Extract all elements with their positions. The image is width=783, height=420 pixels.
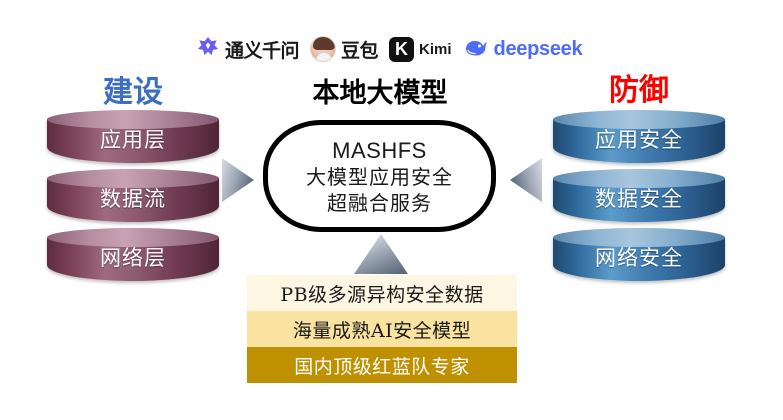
right-cylinder-stack: 应用安全 数据安全 网络安全 — [553, 110, 725, 287]
cylinder-left-1[interactable]: 数据流 — [47, 169, 219, 227]
cylinder-left-0[interactable]: 应用层 — [47, 110, 219, 168]
logo-item-tongyi: 通义千问 — [196, 35, 299, 64]
cylinder-label: 数据流 — [47, 183, 219, 215]
oval-line-2: 超融合服务 — [327, 190, 432, 216]
logo-label-tongyi: 通义千问 — [225, 36, 299, 63]
center-heading: 本地大模型 — [262, 80, 498, 107]
left-column-heading: 建设 — [47, 78, 219, 108]
logo-item-kimi: K Kimi — [389, 37, 452, 62]
cylinder-label: 网络安全 — [553, 242, 725, 274]
cylinder-right-2[interactable]: 网络安全 — [553, 228, 725, 286]
model-logo-strip: 通义千问 豆包 K Kimi deepseek — [196, 28, 596, 70]
foundation-bar-stack: PB级多源异构安全数据 海量成熟AI安全模型 国内顶级红蓝队专家 — [247, 275, 517, 383]
oval-title: MASHFS — [332, 137, 427, 164]
cylinder-label: 应用层 — [47, 124, 219, 156]
logo-label-doubao: 豆包 — [341, 36, 378, 63]
doubao-avatar-logo — [310, 36, 336, 62]
logo-item-deepseek: deepseek — [463, 36, 583, 63]
cylinder-right-1[interactable]: 数据安全 — [553, 169, 725, 227]
arrow-right-gray-icon — [222, 156, 256, 209]
kimi-k-logo: K — [389, 37, 414, 62]
center-service-oval[interactable]: MASHFS 大模型应用安全 超融合服务 — [263, 120, 496, 232]
foundation-bar-data[interactable]: PB级多源异构安全数据 — [247, 275, 517, 311]
arrow-up-gray-icon — [352, 234, 410, 281]
diagram-canvas: 通义千问 豆包 K Kimi deepseek 建设 本地大模型 防御 — [0, 0, 783, 420]
oval-line-1: 大模型应用安全 — [306, 164, 453, 190]
cylinder-label: 数据安全 — [553, 183, 725, 215]
foundation-bar-experts[interactable]: 国内顶级红蓝队专家 — [247, 347, 517, 383]
cylinder-right-0[interactable]: 应用安全 — [553, 110, 725, 168]
tongyi-qianwen-logo — [196, 35, 220, 64]
logo-item-doubao: 豆包 — [310, 36, 378, 63]
cylinder-left-2[interactable]: 网络层 — [47, 228, 219, 286]
arrow-left-gray-icon — [508, 156, 542, 209]
cylinder-label: 网络层 — [47, 242, 219, 274]
left-cylinder-stack: 应用层 数据流 网络层 — [47, 110, 219, 287]
foundation-bar-models[interactable]: 海量成熟AI安全模型 — [247, 311, 517, 347]
logo-label-deepseek: deepseek — [494, 38, 583, 61]
cylinder-label: 应用安全 — [553, 124, 725, 156]
logo-label-kimi: Kimi — [419, 41, 452, 58]
deepseek-whale-logo — [463, 36, 489, 63]
right-column-heading: 防御 — [553, 76, 725, 106]
